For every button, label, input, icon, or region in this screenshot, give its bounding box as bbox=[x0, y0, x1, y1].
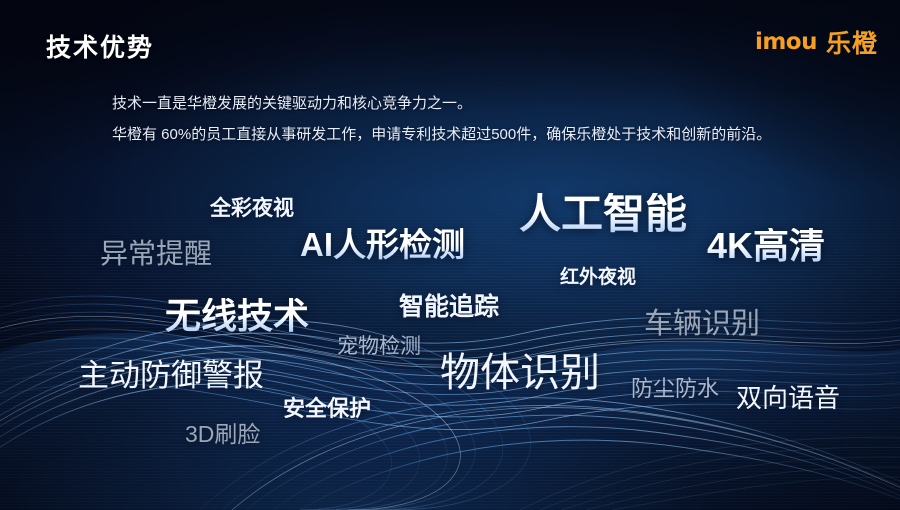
keyword-tag: 无线技术 bbox=[165, 298, 309, 334]
keyword-tag: 主动防御警报 bbox=[78, 360, 264, 391]
keyword-tag: 全彩夜视 bbox=[210, 198, 294, 219]
keyword-tag: 3D刷脸 bbox=[185, 423, 260, 446]
keyword-tag: 安全保护 bbox=[283, 398, 371, 420]
keyword-tag: 4K高清 bbox=[707, 228, 825, 264]
keyword-tag: 物体识别 bbox=[440, 353, 600, 393]
keyword-tag: 异常提醒 bbox=[100, 240, 212, 268]
keyword-tag: 双向语音 bbox=[736, 385, 840, 411]
keyword-tag: 宠物检测 bbox=[337, 336, 421, 357]
keyword-tag: 防尘防水 bbox=[631, 378, 719, 400]
technology-word-cloud: 全彩夜视异常提醒AI人形检测人工智能4K高清红外夜视无线技术智能追踪车辆识别宠物… bbox=[0, 0, 900, 510]
keyword-tag: 智能追踪 bbox=[399, 295, 499, 320]
keyword-tag: 车辆识别 bbox=[644, 310, 760, 339]
keyword-tag: 人工智能 bbox=[519, 193, 687, 235]
keyword-tag: AI人形检测 bbox=[300, 228, 465, 261]
keyword-tag: 红外夜视 bbox=[560, 268, 636, 287]
slide-root: 技术优势 imou 乐橙 技术一直是华橙发展的关键驱动力和核心竞争力之一。 华橙… bbox=[0, 0, 900, 510]
